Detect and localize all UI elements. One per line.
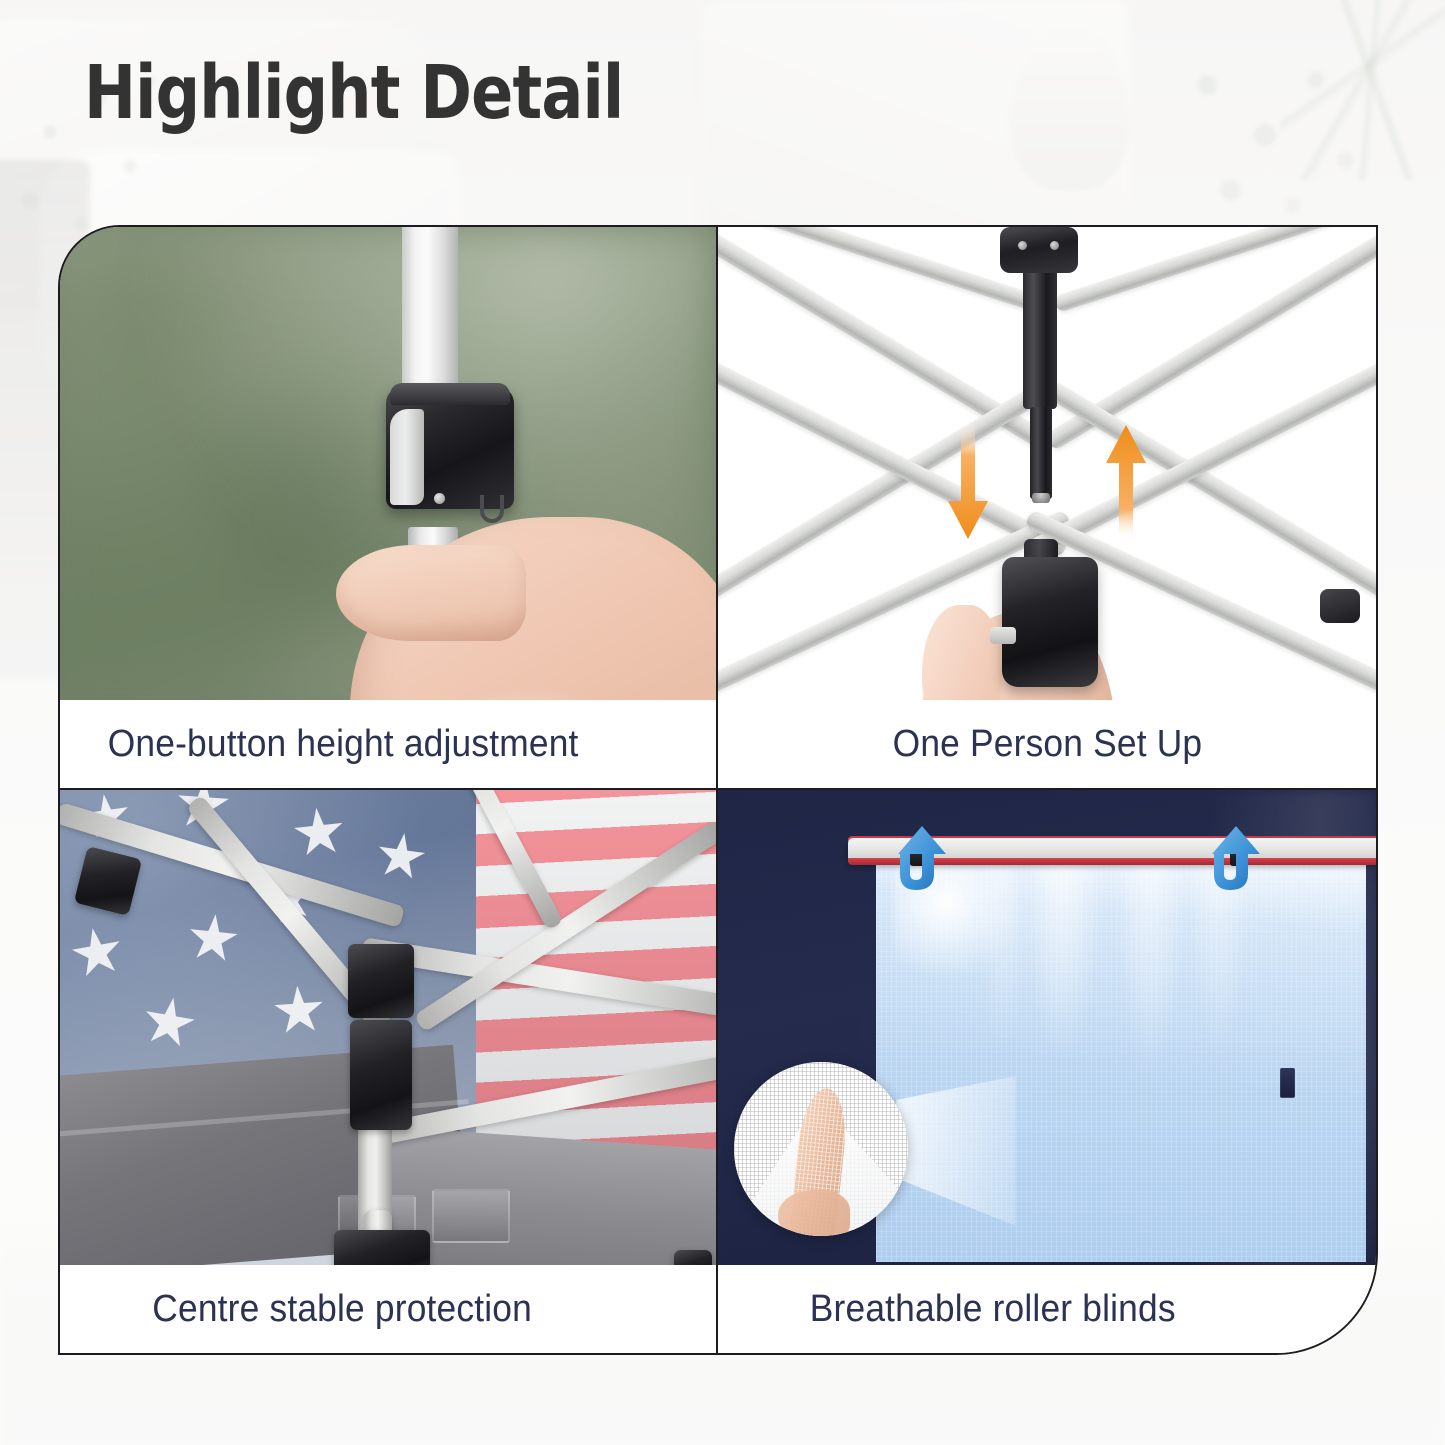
collar-button-slot — [480, 495, 504, 523]
peak-hub-screw-right — [1050, 241, 1059, 250]
collar-screw — [434, 493, 445, 504]
feature-panel-breathable-roller-blinds: Breathable roller blinds — [718, 790, 1376, 1353]
peak-hub — [1000, 227, 1078, 273]
caption-text: Centre stable protection — [152, 1288, 532, 1331]
hand-thumb — [336, 545, 526, 641]
photo-one-person-setup — [718, 227, 1376, 700]
caption-breathable-roller-blinds: Breathable roller blinds — [718, 1265, 1376, 1353]
sidewall-tab-right — [1280, 1068, 1295, 1098]
center-stem-tip — [1032, 493, 1050, 503]
centre-fitting-body — [350, 1020, 412, 1130]
hand-fingers — [922, 605, 1002, 700]
mesh-closeup-inset — [734, 1062, 908, 1236]
truss-bar-10 — [733, 227, 1043, 313]
collar-release-lever — [390, 409, 424, 505]
page-title: Highlight Detail — [84, 56, 623, 130]
caption-centre-stable-protection: Centre stable protection — [60, 1265, 716, 1353]
centre-fitting-top — [348, 944, 414, 1018]
arrow-up-curved-icon — [894, 824, 956, 896]
feature-panel-one-person-setup: One Person Set Up — [718, 227, 1376, 790]
arrow-up-icon — [1104, 423, 1148, 541]
caption-text: One Person Set Up — [892, 723, 1202, 766]
valance-pocket-right — [432, 1189, 510, 1243]
truss-bar-7 — [1027, 346, 1376, 558]
inset-thumb — [778, 1190, 850, 1236]
peak-hub-screw-left — [1018, 241, 1027, 250]
center-stem-lower — [1030, 407, 1052, 499]
centre-fitting-bottom — [334, 1230, 430, 1265]
photo-height-adjustment — [60, 227, 716, 700]
caption-height-adjustment: One-button height adjustment — [60, 700, 716, 788]
corner-fitting-right — [674, 1250, 712, 1265]
photo-breathable-roller-blinds — [718, 790, 1376, 1265]
arrow-up-curved-icon — [1208, 824, 1270, 896]
feature-grid: One-button height adjustment — [60, 227, 1376, 1353]
leg-fitting — [1320, 589, 1360, 623]
center-stem-upper — [1023, 269, 1057, 409]
slider-hub — [1002, 557, 1098, 687]
infographic-page: Highlight Detail — [0, 0, 1445, 1445]
truss-bar-3 — [718, 346, 1069, 558]
collar-top-cap — [390, 383, 510, 405]
slider-hub-tab — [990, 627, 1016, 644]
feature-panel-centre-stable-protection: Centre stable protection — [60, 790, 718, 1353]
arrow-down-icon — [946, 423, 990, 541]
photo-centre-stable-protection — [60, 790, 716, 1265]
feature-panel-height-adjustment: One-button height adjustment — [60, 227, 718, 790]
caption-text: One-button height adjustment — [108, 723, 579, 766]
feature-grid-frame: One-button height adjustment — [58, 225, 1378, 1355]
caption-text: Breathable roller blinds — [810, 1288, 1176, 1331]
caption-one-person-setup: One Person Set Up — [718, 700, 1376, 788]
